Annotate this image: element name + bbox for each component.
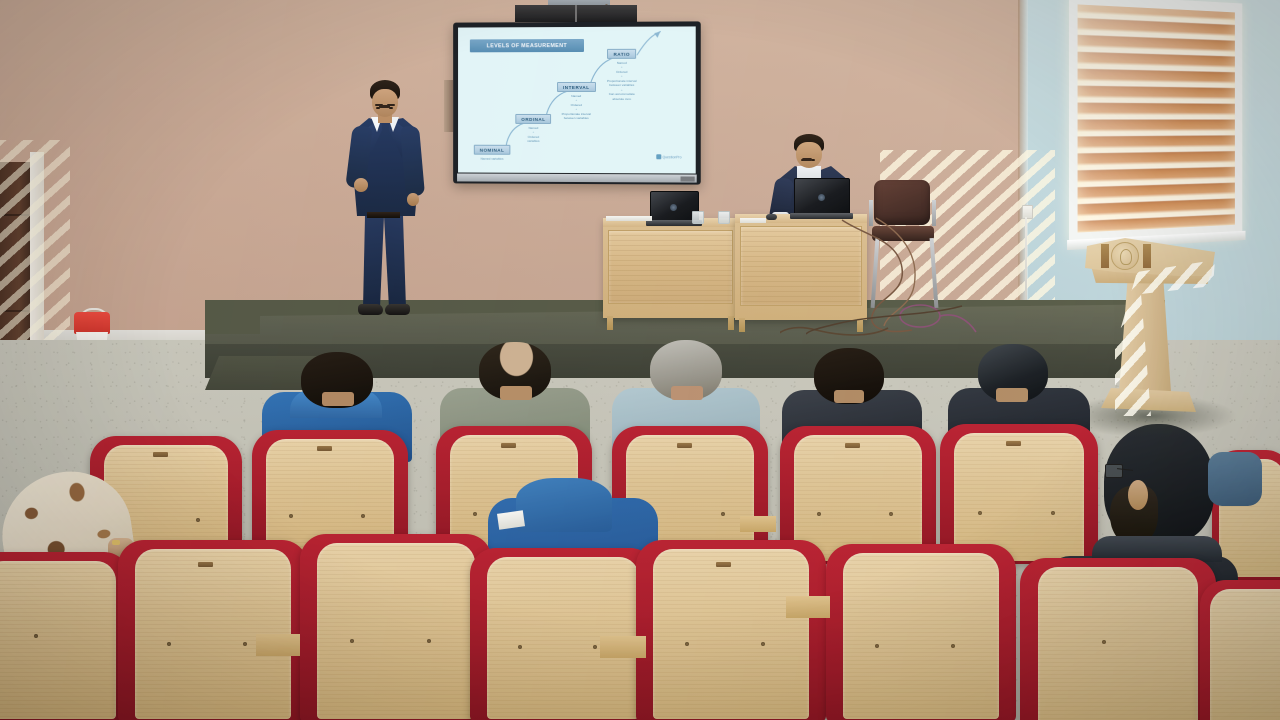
lecture-hall-photo: LEVELS OF MEASUREMENT NOMINAL Named	[0, 0, 1280, 720]
attendee-4-neck	[834, 390, 864, 403]
slide-step-interval: INTERVAL Named + Ordered + Proportionate…	[557, 82, 595, 121]
presenter-hand-right	[407, 193, 419, 206]
attendee-11-shoulder	[1208, 452, 1262, 506]
step-sub-ordinal: Named + Ordered variables	[527, 126, 539, 144]
slide: LEVELS OF MEASUREMENT NOMINAL Named	[458, 26, 696, 173]
seat-row1-6[interactable]	[826, 544, 1016, 720]
projection-screen[interactable]: LEVELS OF MEASUREMENT NOMINAL Named	[453, 21, 701, 184]
attendee-9-head	[516, 478, 612, 532]
paper-note[interactable]	[740, 218, 766, 223]
presenter-shoe-right	[385, 304, 410, 315]
desk-left	[603, 218, 738, 318]
slide-title: LEVELS OF MEASUREMENT	[470, 39, 584, 52]
presenter-moustache	[379, 105, 390, 108]
laptop-right[interactable]	[794, 178, 848, 213]
seat-armrest-3	[786, 596, 830, 618]
whiteboard-pen-tray	[457, 173, 697, 182]
paper-strip[interactable]	[606, 216, 652, 221]
mouse[interactable]	[766, 214, 777, 220]
presenter	[341, 80, 431, 330]
blinds-sunglow	[1078, 4, 1235, 232]
presenter-hand-gesturing	[354, 178, 368, 192]
seat-row1-3[interactable]	[300, 534, 492, 720]
lectern[interactable]	[1085, 238, 1215, 416]
slide-surface: LEVELS OF MEASUREMENT NOMINAL Named	[458, 26, 696, 173]
whiteboard-mount-arm	[444, 80, 453, 132]
operator-face	[796, 142, 822, 168]
laptop-left[interactable]	[650, 191, 697, 220]
water-glass-2[interactable]	[718, 211, 730, 224]
cable-left-floor	[806, 300, 966, 340]
seat-row1-8[interactable]	[1200, 580, 1280, 720]
watermark-mark	[656, 154, 661, 159]
attendee-1-neck	[322, 392, 354, 406]
attendee-2-neck	[500, 386, 532, 400]
seat-row2-6[interactable]	[940, 424, 1098, 564]
seat-row1-1[interactable]	[0, 552, 130, 720]
window-blinds[interactable]	[1078, 4, 1235, 232]
seat-row1-4[interactable]	[470, 548, 656, 720]
podium-inlay-right	[1143, 244, 1151, 268]
podium-emblem	[1111, 242, 1139, 270]
speaker-bar	[515, 5, 637, 22]
presenter-leg-right	[384, 216, 406, 308]
seat-armrest-1	[256, 634, 300, 656]
step-sub-interval: Named + Ordered + Proportionate interval…	[562, 94, 591, 121]
window	[1069, 0, 1242, 246]
step-label-interval: INTERVAL	[557, 82, 595, 92]
seat-armrest-4	[740, 516, 776, 532]
water-glass-1[interactable]	[692, 211, 704, 224]
step-label-ratio: RATIO	[607, 49, 636, 59]
step-label-nominal: NOMINAL	[474, 145, 510, 155]
presenter-shoe-left	[358, 304, 383, 315]
step-sub-ratio: Named + Ordered + Proportionate interval…	[607, 61, 637, 102]
slide-watermark: QuestionPro	[656, 154, 682, 159]
step-sub-nominal: Named variables	[481, 157, 504, 162]
slide-step-ratio: RATIO Named + Ordered + Proportionate in…	[607, 49, 637, 102]
seat-armrest-2	[600, 636, 646, 658]
podium-inlay-left	[1101, 244, 1109, 268]
attendee-3-neck	[671, 386, 703, 400]
seat-row1-2[interactable]	[118, 540, 308, 720]
seat-row1-7[interactable]	[1020, 558, 1216, 720]
slide-step-nominal: NOMINAL Named variables	[474, 145, 510, 162]
presenter-face	[372, 89, 398, 117]
presenter-belt	[367, 212, 400, 218]
whiteboard-brand-tag	[681, 176, 695, 181]
attendee-5-neck	[996, 388, 1028, 402]
seat-row1-5[interactable]	[636, 540, 826, 720]
attendee-10-ear	[1128, 480, 1148, 510]
presenter-leg-left	[363, 216, 384, 308]
slide-step-ordinal: ORDINAL Named + Ordered variables	[515, 114, 551, 144]
operator-moustache	[802, 158, 812, 161]
sunlight-stripes-left-wall	[0, 140, 70, 340]
step-label-ordinal: ORDINAL	[515, 114, 551, 124]
